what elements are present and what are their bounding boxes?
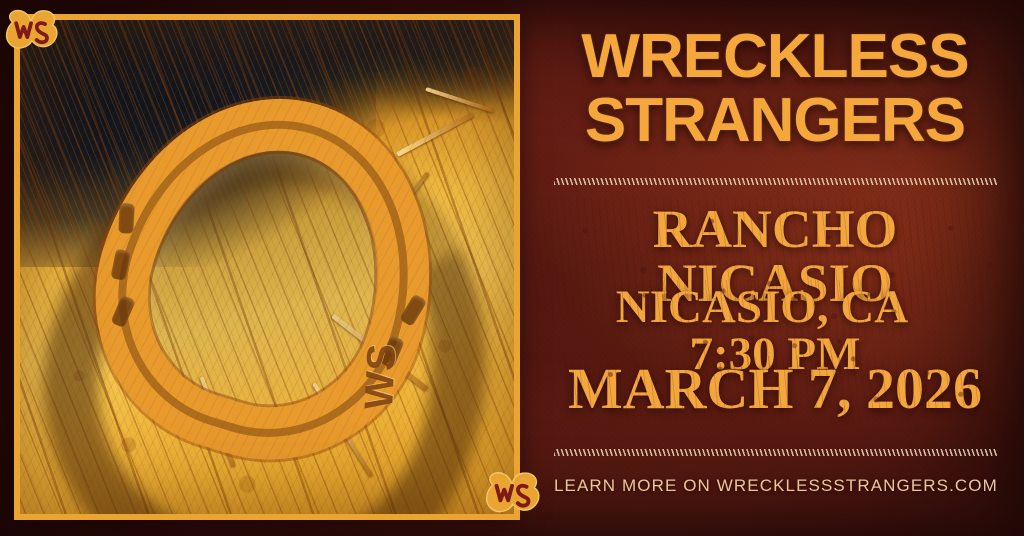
city-state-text: NICASIO, CA [616,284,909,331]
hatched-rule-icon [554,178,998,185]
photo-panel: WS [14,14,520,520]
band-name-line-2: STRANGERS [540,92,1010,149]
concert-flyer: WS WRECKLESS STRANGERS RANCHO NICASIO [0,0,1024,536]
show-date-text: MARCH 7, 2026 [568,360,982,418]
hatched-rule-icon [554,449,998,456]
horseshoe-nail [118,203,135,234]
band-name-line-1: WRECKLESS [540,28,1010,85]
ws-monogram-icon [4,6,60,58]
horseshoe-stamp-text: WS [357,342,405,411]
event-info: WRECKLESS STRANGERS RANCHO NICASIO NICAS… [540,0,1010,536]
website-callout[interactable]: LEARN MORE ON WRECKLESSSTRANGERS.COM [554,476,1020,496]
show-date: MARCH 7, 2026 [540,360,1010,418]
horseshoe-photo: WS [20,20,514,514]
ws-monogram-icon [484,468,542,522]
